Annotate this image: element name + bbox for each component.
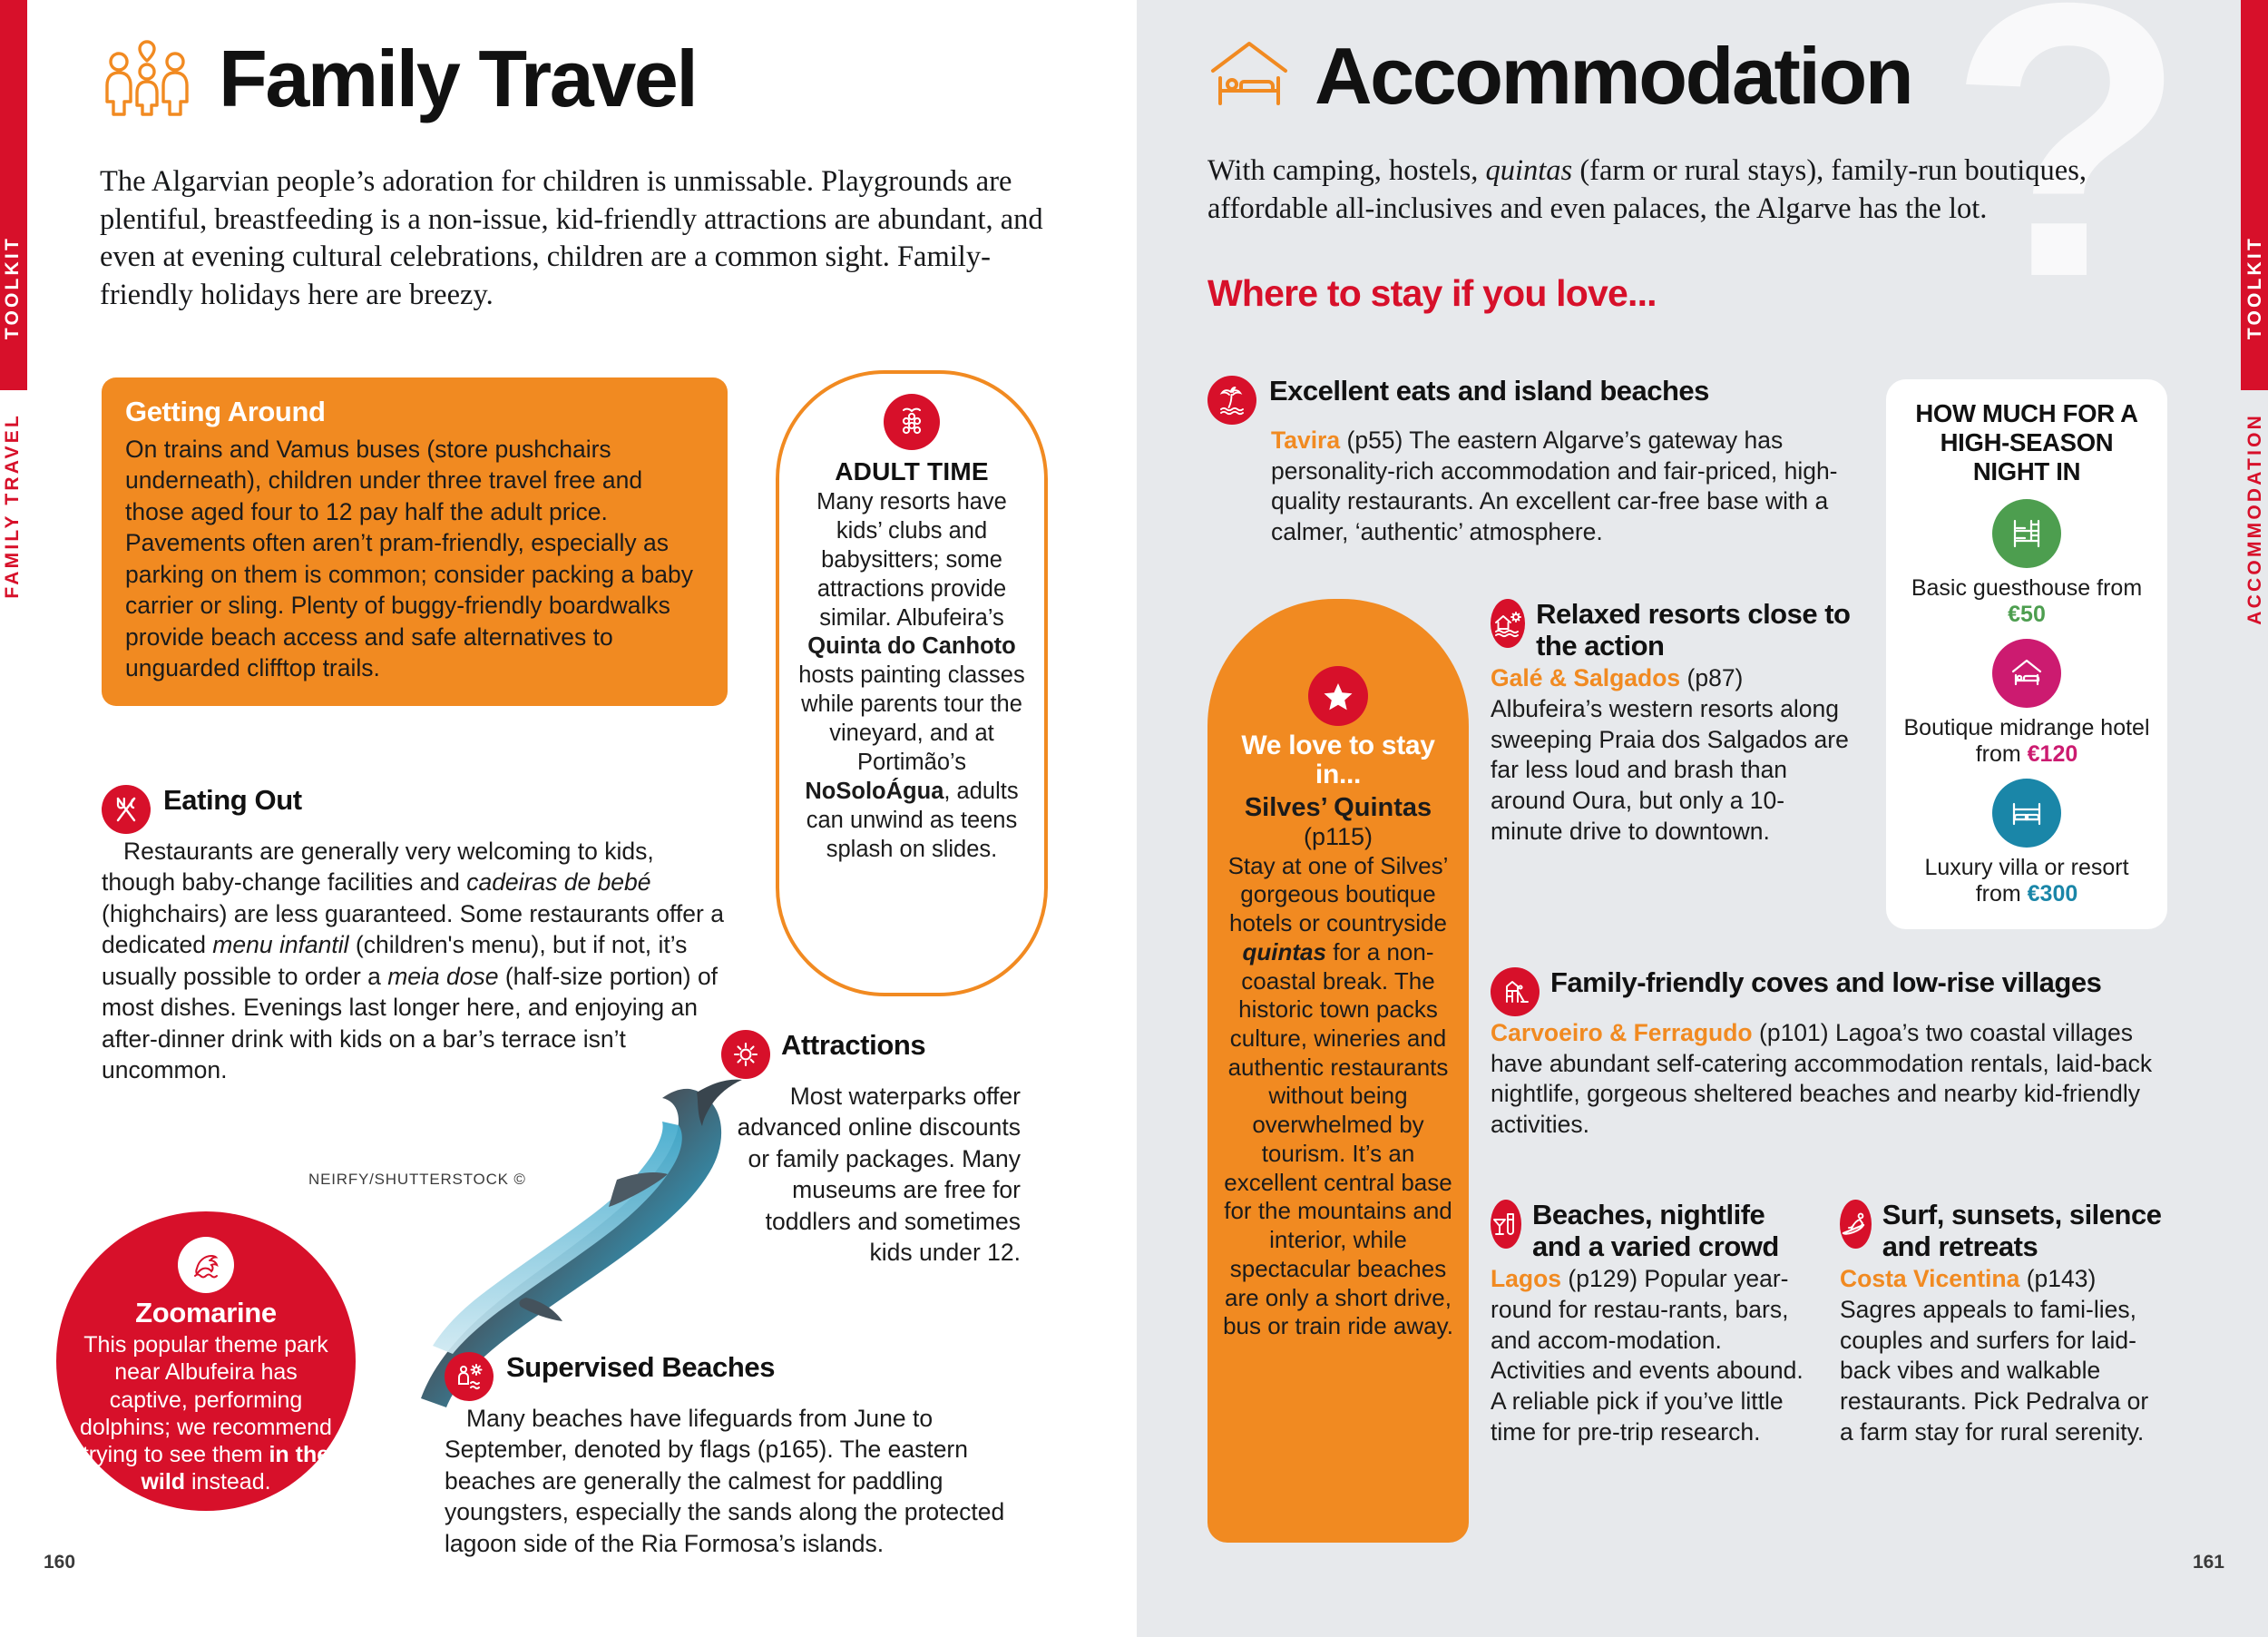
family-coves-body: Carvoeiro & Ferragudo (p101) Lagoa’s two… bbox=[1491, 1018, 2171, 1141]
beaches-nightlife-body: Lagos (p129) Popular year-round for rest… bbox=[1491, 1264, 1815, 1447]
zoomarine-body: This popular theme park near Albufeira h… bbox=[78, 1331, 334, 1496]
family-coves-heading: Family-friendly coves and low-rise villa… bbox=[1550, 967, 2101, 999]
book-spread: TOOLKIT FAMILY TRAVEL Family Travel The … bbox=[0, 0, 2268, 1637]
price-item: Boutique midrange hotel from €120 bbox=[1902, 639, 2151, 768]
family-travel-header: Family Travel bbox=[100, 34, 696, 123]
lifeguard-icon bbox=[445, 1352, 494, 1401]
our-pick-body: Stay at one of Silves’ gorgeous boutique… bbox=[1220, 852, 1456, 1341]
section-family-friendly-coves: Family-friendly coves and low-rise villa… bbox=[1491, 967, 2171, 1141]
playground-icon bbox=[1491, 967, 1540, 1016]
price-item-label: Basic guesthouse from €50 bbox=[1902, 575, 2151, 628]
cocktail-icon bbox=[1491, 1200, 1521, 1249]
section-surf-sunsets: Surf, sunsets, silence and retreats Cost… bbox=[1840, 1200, 2166, 1447]
page-title-left: Family Travel bbox=[219, 39, 696, 119]
beaches-nightlife-heading: Beaches, nightlife and a varied crowd bbox=[1532, 1200, 1815, 1262]
eating-out-heading: Eating Out bbox=[163, 785, 302, 816]
section-beaches-nightlife: Beaches, nightlife and a varied crowd La… bbox=[1491, 1200, 1815, 1447]
getting-around-title: Getting Around bbox=[125, 396, 704, 428]
price-box: HOW MUCH FOR A HIGH-SEASON NIGHT IN Basi… bbox=[1886, 379, 2167, 929]
page-title-right: Accommodation bbox=[1315, 36, 1911, 116]
our-pick-place: Silves’ Quintas bbox=[1220, 794, 1456, 823]
toolkit-tab-label-right: TOOLKIT bbox=[2244, 236, 2266, 339]
surf-sunsets-heading: Surf, sunsets, silence and retreats bbox=[1882, 1200, 2166, 1262]
eating-out-body: Restaurants are generally very welcoming… bbox=[102, 836, 728, 1086]
section-eating-out: Eating Out Restaurants are generally ver… bbox=[102, 785, 728, 1086]
our-pick-page-ref: (p115) bbox=[1220, 823, 1456, 851]
grapes-icon bbox=[884, 394, 940, 450]
adult-time-capsule: ADULT TIME Many resorts have kids’ clubs… bbox=[776, 370, 1048, 996]
our-pick-capsule: OUR PICK We love to stay in... Silves’ Q… bbox=[1207, 599, 1469, 1543]
right-page: TOOLKIT ACCOMMODATION ? Accommodation Wi… bbox=[1137, 0, 2268, 1637]
section-attractions: Attractions Most waterparks offer advanc… bbox=[721, 1030, 1021, 1269]
excellent-eats-heading: Excellent eats and island beaches bbox=[1269, 376, 1709, 407]
getting-around-box: Getting Around On trains and Vamus buses… bbox=[102, 377, 728, 706]
cutlery-icon bbox=[102, 785, 151, 834]
left-intro-paragraph: The Algarvian people’s adoration for chi… bbox=[100, 163, 1061, 314]
section-supervised-beaches: Supervised Beaches Many beaches have lif… bbox=[445, 1352, 1043, 1559]
excellent-eats-body: Tavira (p55) The eastern Algarve’s gatew… bbox=[1207, 426, 1870, 548]
star-icon bbox=[1308, 666, 1368, 726]
supervised-beaches-heading: Supervised Beaches bbox=[506, 1352, 775, 1383]
palm-beach-icon bbox=[1207, 376, 1256, 425]
family-travel-tab-label: FAMILY TRAVEL bbox=[2, 413, 24, 599]
svg-text:OUR PICK: OUR PICK bbox=[1260, 613, 1416, 618]
supervised-beaches-body: Many beaches have lifeguards from June t… bbox=[445, 1403, 1043, 1559]
adult-time-body: Many resorts have kids’ clubs and babysi… bbox=[794, 488, 1030, 864]
accommodation-header: Accommodation bbox=[1207, 34, 1911, 117]
right-intro-paragraph: With camping, hostels, quintas (farm or … bbox=[1207, 152, 2169, 228]
relaxed-resorts-body: Galé & Salgados (p87) Albufeira’s wester… bbox=[1491, 663, 1853, 847]
boutique-hotel-icon bbox=[1992, 639, 2061, 708]
section-excellent-eats: Excellent eats and island beaches Tavira… bbox=[1207, 376, 1870, 548]
dolphin-icon bbox=[178, 1237, 234, 1293]
price-item-label: Boutique midrange hotel from €120 bbox=[1902, 715, 2151, 768]
beach-house-sun-icon bbox=[1491, 599, 1525, 648]
adult-time-title: ADULT TIME bbox=[794, 457, 1030, 486]
folio-left: 160 bbox=[44, 1552, 75, 1573]
price-item: Luxury villa or resort from €300 bbox=[1902, 779, 2151, 907]
surf-sunsets-body: Costa Vicentina (p143) Sagres appeals to… bbox=[1840, 1264, 2166, 1447]
our-pick-love-line: We love to stay in... bbox=[1220, 731, 1456, 790]
zoomarine-title: Zoomarine bbox=[78, 1297, 334, 1329]
bed-house-icon bbox=[1207, 34, 1291, 117]
getting-around-body: On trains and Vamus buses (store pushcha… bbox=[125, 434, 704, 684]
bunk-bed-icon bbox=[1992, 499, 2061, 568]
surfer-icon bbox=[1840, 1200, 1872, 1249]
price-box-title: HOW MUCH FOR A HIGH-SEASON NIGHT IN bbox=[1902, 399, 2151, 486]
our-pick-arc-label: OUR PICK bbox=[1220, 613, 1456, 666]
our-pick-arc-text: OUR PICK bbox=[1260, 613, 1416, 618]
relaxed-resorts-heading: Relaxed resorts close to the action bbox=[1536, 599, 1853, 662]
attractions-body: Most waterparks offer advanced online di… bbox=[721, 1081, 1021, 1269]
folio-right: 161 bbox=[2193, 1552, 2224, 1573]
family-icon bbox=[100, 34, 195, 123]
toolkit-tab-label-left: TOOLKIT bbox=[2, 236, 24, 339]
price-item: Basic guesthouse from €50 bbox=[1902, 499, 2151, 628]
section-relaxed-resorts: Relaxed resorts close to the action Galé… bbox=[1491, 599, 1853, 847]
attractions-heading: Attractions bbox=[781, 1030, 925, 1061]
ferris-wheel-icon bbox=[721, 1030, 770, 1079]
where-to-stay-heading: Where to stay if you love... bbox=[1207, 272, 1657, 315]
accommodation-tab-label: ACCOMMODATION bbox=[2244, 413, 2266, 625]
double-bed-icon bbox=[1992, 779, 2061, 848]
zoomarine-callout: Zoomarine This popular theme park near A… bbox=[56, 1211, 356, 1511]
left-page: TOOLKIT FAMILY TRAVEL Family Travel The … bbox=[0, 0, 1137, 1637]
price-item-label: Luxury villa or resort from €300 bbox=[1902, 855, 2151, 907]
